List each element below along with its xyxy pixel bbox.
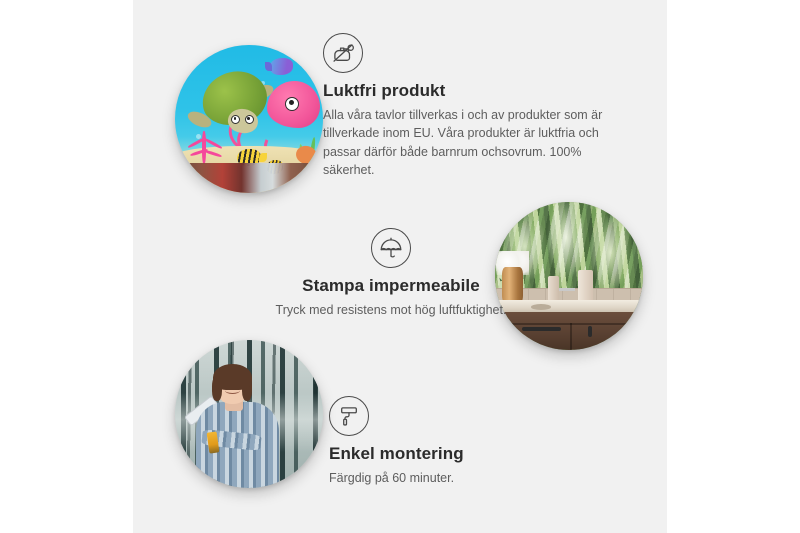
- content-panel: Luktfri produkt Alla våra tavlor tillver…: [133, 0, 667, 533]
- feature-description: Alla våra tavlor tillverkas i och av pro…: [323, 106, 613, 179]
- icon-wrapper: [211, 228, 571, 268]
- feature-description: Tryck med resistens mot hög luftfuktighe…: [211, 301, 571, 319]
- drawer-handle: [522, 327, 561, 331]
- soap-bottle: [578, 270, 593, 303]
- paint-roller-icon: [329, 396, 369, 436]
- blue-fish-icon: [270, 58, 294, 74]
- feature-description: Färgdig på 60 minuter.: [329, 469, 559, 487]
- turtle-eye: [245, 115, 254, 124]
- feature-odorless: Luktfri produkt Alla våra tavlor tillver…: [323, 33, 613, 179]
- page-root: Luktfri produkt Alla våra tavlor tillver…: [0, 0, 800, 533]
- photo-sea-life-mural: [175, 45, 323, 193]
- door-handle: [588, 326, 592, 337]
- turtle-eye: [231, 115, 240, 124]
- feature-easy-mounting: Enkel montering Färgdig på 60 minuter.: [329, 396, 559, 487]
- feature-title: Enkel montering: [329, 443, 559, 464]
- icon-wrapper: [323, 33, 613, 73]
- umbrella-icon: [371, 228, 411, 268]
- cabinet-seam: [570, 323, 572, 350]
- no-perfume-bottle-icon: [323, 33, 363, 73]
- photo-woman-roller-forest-wallpaper: [175, 340, 323, 488]
- woman-hair: [213, 364, 251, 391]
- feature-title: Stampa impermeabile: [211, 275, 571, 296]
- icon-wrapper: [329, 396, 559, 436]
- photo-bottom-strip: [175, 163, 323, 193]
- door-handle: [625, 326, 629, 337]
- feature-waterproof: Stampa impermeabile Tryck med resistens …: [211, 228, 571, 319]
- feature-title: Luktfri produkt: [323, 80, 613, 101]
